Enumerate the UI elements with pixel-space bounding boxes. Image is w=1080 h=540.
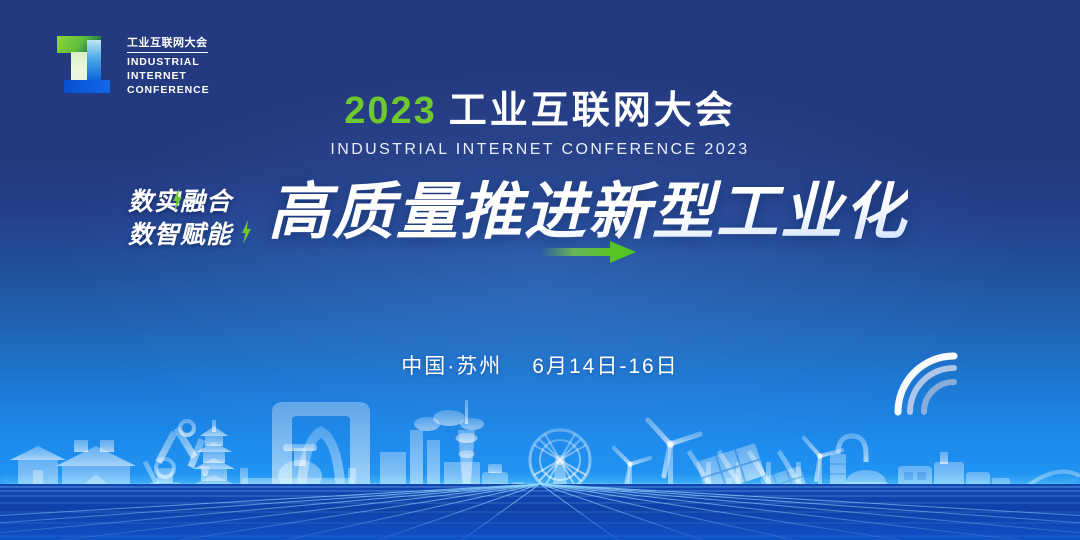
event-dates: 6月14日-16日 xyxy=(532,355,678,378)
logo-en-line-2: INTERNET xyxy=(127,70,210,84)
conference-title-cn: 工业互联网大会 xyxy=(449,90,736,132)
logo-lockup: 工业互联网大会 INDUSTRIAL INTERNET CONFERENCE xyxy=(56,30,210,98)
event-details: 中国·苏州6月14日-16日 xyxy=(0,350,1080,380)
logo-text-block: 工业互联网大会 INDUSTRIAL INTERNET CONFERENCE xyxy=(127,30,210,98)
conference-title-en: INDUSTRIAL INTERNET CONFERENCE 2023 xyxy=(0,141,1080,159)
conference-title-year: 2023 xyxy=(344,90,437,132)
perspective-grid-floor xyxy=(0,484,1080,540)
lightning-bolt-icon xyxy=(241,220,252,244)
green-arrow-icon xyxy=(540,240,636,264)
logo-cn-name: 工业互联网大会 xyxy=(127,37,208,53)
headline-block: 数实融合 数智赋能 高质量推进新型工业化 xyxy=(0,178,1080,288)
logo-en-line-1: INDUSTRIAL xyxy=(127,56,210,70)
conference-banner: 工业互联网大会 INDUSTRIAL INTERNET CONFERENCE 2… xyxy=(0,0,1080,540)
industrial-internet-conference-logo-icon xyxy=(56,30,118,96)
conference-title-block: 2023工业互联网大会 INDUSTRIAL INTERNET CONFEREN… xyxy=(0,92,1080,159)
conference-title: 2023工业互联网大会 xyxy=(0,92,1080,130)
slogan-left: 数实融合 数智赋能 xyxy=(128,186,232,252)
event-location: 中国·苏州 xyxy=(401,355,502,378)
slogan-line-2: 数智赋能 xyxy=(128,219,232,252)
lightning-bolt-icon xyxy=(172,188,183,212)
